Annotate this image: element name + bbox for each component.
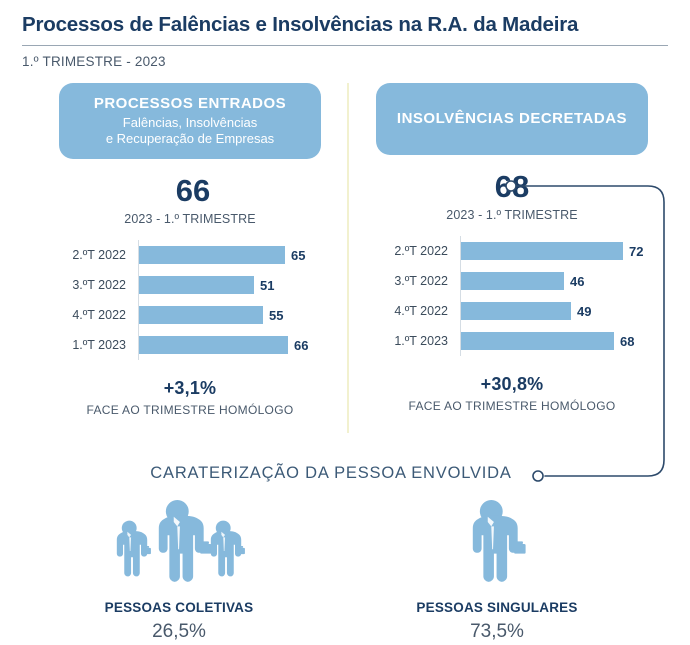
headline-caption-left: 2023 - 1.º TRIMESTRE (40, 212, 340, 226)
panel-divider (347, 83, 349, 433)
pill-subtitle-left: Falências, Insolvências e Recuperação de… (106, 115, 274, 149)
header: Processos de Falências e Insolvências na… (0, 0, 690, 69)
bar-category-label: 2.ºT 2022 (40, 248, 132, 262)
bar-category-label: 4.ºT 2022 (40, 308, 132, 322)
bar-value-label: 49 (577, 304, 591, 319)
chart-axis-left (138, 240, 139, 360)
headline-caption-right: 2023 - 1.º TRIMESTRE (362, 208, 662, 222)
bar-fill (139, 276, 254, 294)
bar-fill (139, 336, 288, 354)
panel-header-pill-right: INSOLVÊNCIAS DECRETADAS (376, 83, 648, 155)
pill-subtitle-line-1: Falências, Insolvências (106, 115, 274, 132)
bar-row: 4.ºT 202255 (40, 300, 340, 330)
bar-row: 1.ºT 202366 (40, 330, 340, 360)
bar-row: 4.ºT 202249 (362, 296, 662, 326)
panel-processos-entrados: PROCESSOS ENTRADOS Falências, Insolvênci… (40, 83, 340, 417)
bar-value-label: 51 (260, 278, 274, 293)
bar-value-label: 68 (620, 334, 634, 349)
bar-track: 55 (132, 306, 340, 324)
bar-category-label: 1.ºT 2023 (362, 334, 454, 348)
bar-category-label: 3.ºT 2022 (40, 278, 132, 292)
bar-track: 68 (454, 332, 662, 350)
bar-track: 51 (132, 276, 340, 294)
infographic-root: Processos de Falências e Insolvências na… (0, 0, 690, 645)
section-heading-label: CARATERIZAÇÃO DA PESSOA ENVOLVIDA (150, 464, 539, 483)
group-of-people-icon (28, 500, 330, 590)
panel-header-pill-left: PROCESSOS ENTRADOS Falências, Insolvênci… (59, 83, 321, 159)
bar-track: 49 (454, 302, 662, 320)
bar-row: 3.ºT 202246 (362, 266, 662, 296)
bar-value-label: 55 (269, 308, 283, 323)
pill-subtitle-line-2: e Recuperação de Empresas (106, 131, 274, 148)
person-block-singulares: PESSOAS SINGULARES 73,5% (330, 500, 660, 643)
bar-fill (139, 306, 263, 324)
variation-value-left: +3,1% (40, 378, 340, 399)
bar-fill (461, 272, 564, 290)
variation-block-left: +3,1% FACE AO TRIMESTRE HOMÓLOGO (40, 378, 340, 417)
bar-chart-left: 2.ºT 2022653.ºT 2022514.ºT 2022551.ºT 20… (40, 240, 340, 360)
bar-track: 46 (454, 272, 662, 290)
variation-block-right: +30,8% FACE AO TRIMESTRE HOMÓLOGO (362, 374, 662, 413)
bar-row: 2.ºT 202265 (40, 240, 340, 270)
pill-title-right: INSOLVÊNCIAS DECRETADAS (397, 109, 627, 129)
bar-value-label: 46 (570, 274, 584, 289)
bar-category-label: 3.ºT 2022 (362, 274, 454, 288)
bar-category-label: 1.ºT 2023 (40, 338, 132, 352)
bar-fill (461, 242, 623, 260)
variation-value-right: +30,8% (362, 374, 662, 395)
bar-track: 65 (132, 246, 340, 264)
person-percent-singulares: 73,5% (334, 621, 660, 643)
bar-category-label: 4.ºT 2022 (362, 304, 454, 318)
bar-fill (139, 246, 285, 264)
bar-fill (461, 332, 614, 350)
bar-value-label: 72 (629, 244, 643, 259)
bar-chart-right: 2.ºT 2022723.ºT 2022464.ºT 2022491.ºT 20… (362, 236, 662, 356)
variation-caption-left: FACE AO TRIMESTRE HOMÓLOGO (40, 403, 340, 417)
persons-section: PESSOAS COLETIVAS 26,5% (0, 500, 690, 643)
page-subtitle: 1.º TRIMESTRE - 2023 (22, 54, 668, 69)
pill-title-left: PROCESSOS ENTRADOS (94, 94, 286, 114)
bar-row: 2.ºT 202272 (362, 236, 662, 266)
bar-track: 72 (454, 242, 662, 260)
headline-number-left: 66 (40, 175, 340, 206)
person-label-coletivas: PESSOAS COLETIVAS (28, 600, 330, 615)
bar-value-label: 66 (294, 338, 308, 353)
person-label-singulares: PESSOAS SINGULARES (334, 600, 660, 615)
headline-number-right: 68 (362, 171, 662, 202)
bar-value-label: 65 (291, 248, 305, 263)
variation-caption-right: FACE AO TRIMESTRE HOMÓLOGO (362, 399, 662, 413)
page-title: Processos de Falências e Insolvências na… (22, 12, 668, 38)
title-divider (22, 45, 668, 46)
single-person-icon (334, 500, 660, 590)
chart-axis-right (460, 236, 461, 356)
bar-row: 3.ºT 202251 (40, 270, 340, 300)
bar-row: 1.ºT 202368 (362, 326, 662, 356)
bar-fill (461, 302, 571, 320)
person-percent-coletivas: 26,5% (28, 621, 330, 643)
bar-category-label: 2.ºT 2022 (362, 244, 454, 258)
panel-insolvencias-decretadas: INSOLVÊNCIAS DECRETADAS 68 2023 - 1.º TR… (362, 83, 662, 413)
section-heading-caraterizacao: CARATERIZAÇÃO DA PESSOA ENVOLVIDA (0, 464, 690, 483)
person-block-coletivas: PESSOAS COLETIVAS 26,5% (0, 500, 330, 643)
bar-track: 66 (132, 336, 340, 354)
